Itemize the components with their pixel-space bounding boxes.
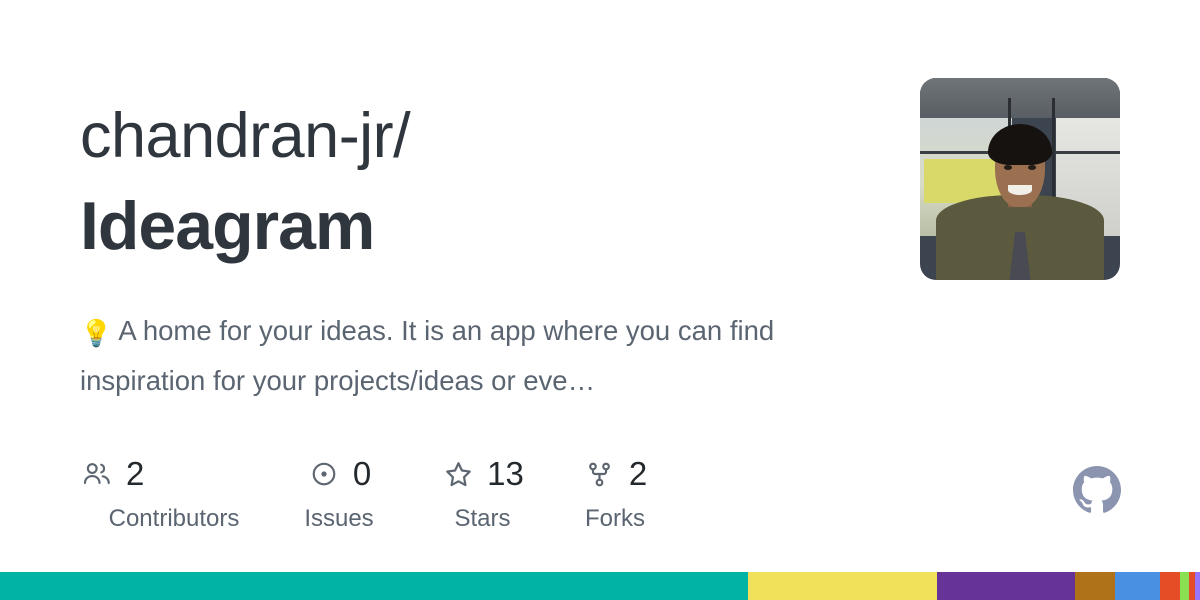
repo-forked-icon [583, 457, 617, 491]
avatar-person-hair [988, 124, 1052, 164]
page-title: chandran-jr/ Ideagram [80, 92, 870, 271]
stat-forks-value: 2 [629, 457, 647, 491]
stat-issues-top: 0 [307, 452, 371, 496]
issue-opened-icon [307, 457, 341, 491]
people-icon [80, 457, 114, 491]
repo-stats: 2 Contributors 0 Issues [80, 452, 675, 534]
language-segment-purple [937, 572, 1075, 600]
stat-stars: 13 Stars [410, 452, 555, 534]
language-segment-green [1180, 572, 1189, 600]
avatar-person-eye-right [1028, 165, 1036, 170]
avatar [920, 78, 1120, 280]
repo-description: 💡A home for your ideas. It is an app whe… [80, 307, 880, 405]
language-bar [0, 572, 1200, 600]
repo-description-line-1: A home for your ideas. It is an app wher… [118, 315, 722, 346]
repo-social-preview-card: chandran-jr/ Ideagram 💡A home for your i… [0, 0, 1200, 600]
stat-issues-value: 0 [353, 457, 371, 491]
stat-contributors-label: Contributors [80, 504, 268, 534]
avatar-bg-ceiling [920, 78, 1120, 118]
stat-contributors-top: 2 [80, 452, 144, 496]
language-segment-blue [1115, 572, 1160, 600]
stat-stars-label: Stars [454, 504, 510, 534]
language-segment-yellow [748, 572, 937, 600]
star-icon [441, 457, 475, 491]
stat-forks-top: 2 [583, 452, 647, 496]
avatar-photo [920, 78, 1120, 280]
stat-issues-label: Issues [304, 504, 373, 534]
language-segment-bronze [1075, 572, 1115, 600]
repo-owner: chandran-jr/ [80, 92, 870, 181]
stat-contributors: 2 Contributors [80, 452, 268, 534]
repo-name: Ideagram [80, 181, 870, 271]
stat-stars-top: 13 [441, 452, 524, 496]
stat-forks: 2 Forks [555, 452, 675, 534]
lightbulb-icon: 💡 [80, 309, 112, 357]
github-mark-icon [1073, 466, 1121, 514]
language-segment-teal [0, 572, 748, 600]
stat-issues: 0 Issues [268, 452, 410, 534]
avatar-person-eye-left [1004, 165, 1012, 170]
stat-forks-label: Forks [585, 504, 645, 534]
language-segment-orange-red [1160, 572, 1180, 600]
stat-contributors-value: 2 [126, 457, 144, 491]
stat-stars-value: 13 [487, 457, 524, 491]
language-segment-violet [1195, 572, 1200, 600]
